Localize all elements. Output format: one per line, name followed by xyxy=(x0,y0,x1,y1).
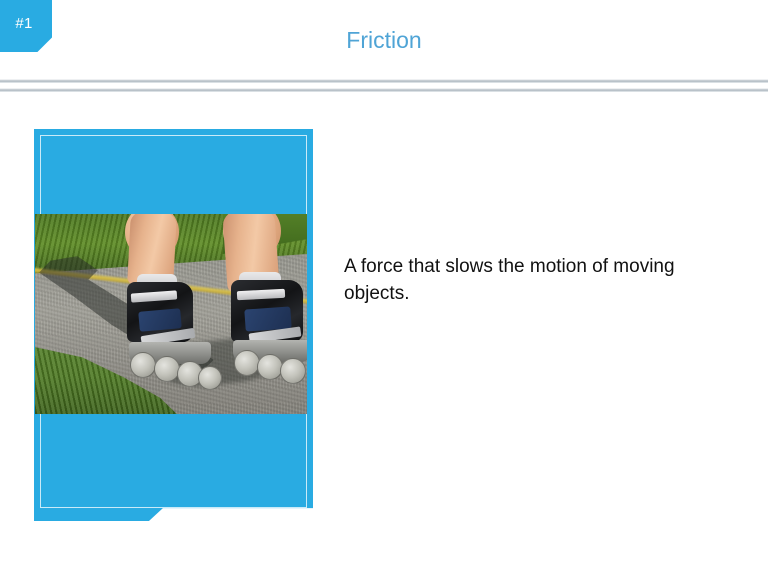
photo-left-skate-wheel-1 xyxy=(130,352,156,378)
slide-body-text: A force that slows the motion of moving … xyxy=(344,253,704,307)
slide-header: #1 Friction xyxy=(0,0,768,79)
photo-left-skate-wheel-2 xyxy=(154,356,180,382)
header-divider-top xyxy=(0,79,768,83)
photo-right-skate-wheel-1 xyxy=(234,350,260,376)
header-divider-bottom xyxy=(0,88,768,92)
photo-left-skate-wheel-4 xyxy=(198,366,222,390)
photo-left-skate-blue-panel xyxy=(138,308,182,332)
photo-right-skate-wheel-3 xyxy=(280,358,306,384)
photo-right-skate-wheel-2 xyxy=(257,354,283,380)
page-title: Friction xyxy=(0,27,768,53)
photo-inline-skates xyxy=(35,214,307,414)
